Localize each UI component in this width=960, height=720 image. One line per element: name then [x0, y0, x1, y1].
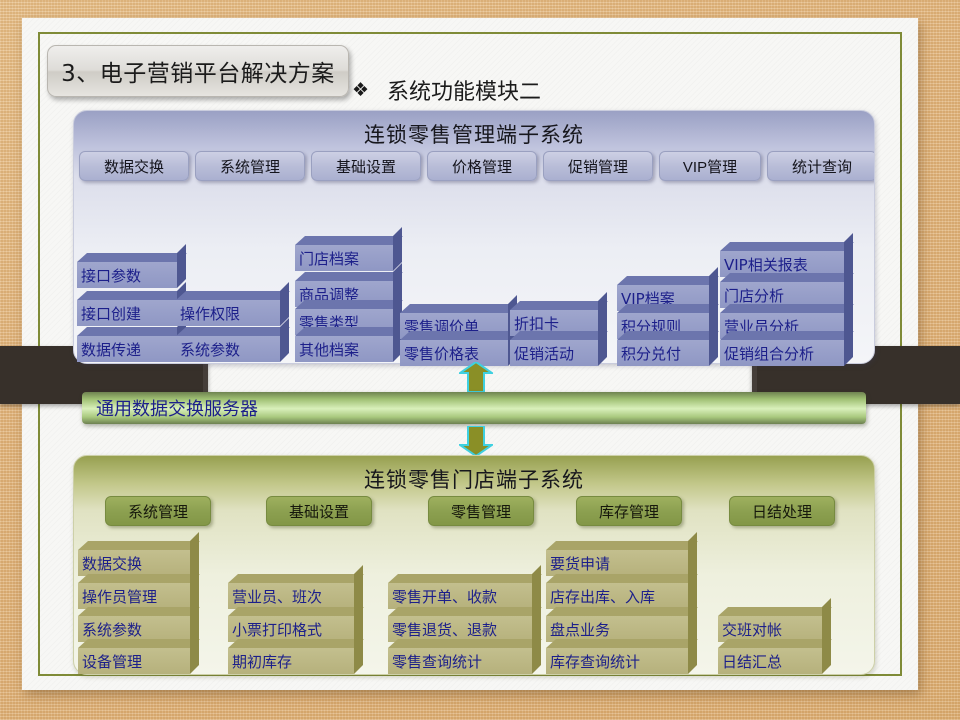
tab-6[interactable]: VIP管理 — [659, 151, 761, 181]
block-item[interactable]: 接口创建 — [77, 300, 177, 326]
block-top-face — [718, 639, 832, 648]
block-label: 零售开单、收款 — [388, 583, 532, 609]
block-top-face — [228, 574, 364, 583]
block-item[interactable]: 库存查询统计 — [546, 648, 688, 674]
subtitle-text: 系统功能模块二 — [387, 74, 541, 106]
block-item[interactable]: 操作员管理 — [78, 583, 190, 609]
tab-2[interactable]: 系统管理 — [195, 151, 305, 181]
block-top-face — [77, 291, 187, 300]
block-item[interactable]: 接口参数 — [77, 262, 177, 288]
block-item[interactable]: 日结汇总 — [718, 648, 822, 674]
block-label: 门店档案 — [295, 245, 393, 271]
block-item[interactable]: 数据交换 — [78, 550, 190, 576]
block-top-face — [718, 607, 832, 616]
block-top-face — [78, 607, 200, 616]
block-item[interactable]: 积分兑付 — [617, 340, 709, 366]
block-top-face — [510, 301, 608, 310]
block-top-face — [617, 331, 719, 340]
block-top-face — [78, 574, 200, 583]
bottom-panel-title: 连锁零售门店端子系统 — [74, 464, 874, 494]
block-top-face — [388, 574, 542, 583]
tab-1[interactable]: 系统管理 — [105, 496, 211, 526]
block-top-face — [77, 253, 187, 262]
block-top-face — [295, 300, 403, 309]
double-arrow-up-icon — [459, 362, 493, 392]
block-label: 数据交换 — [78, 550, 190, 576]
block-item[interactable]: 数据传递 — [77, 336, 177, 362]
bottom-panel-tab-row: 系统管理基础设置零售管理库存管理日结处理 — [74, 496, 874, 526]
block-label: 营业员、班次 — [228, 583, 354, 609]
block-item[interactable]: 营业员、班次 — [228, 583, 354, 609]
block-top-face — [400, 331, 518, 340]
tab-2[interactable]: 基础设置 — [266, 496, 372, 526]
block-label: 数据传递 — [77, 336, 177, 362]
block-top-face — [546, 639, 698, 648]
tab-4[interactable]: 价格管理 — [427, 151, 537, 181]
tab-3[interactable]: 基础设置 — [311, 151, 421, 181]
block-label: 系统参数 — [176, 336, 280, 362]
block-item[interactable]: 零售开单、收款 — [388, 583, 532, 609]
block-top-face — [176, 291, 290, 300]
top-panel-tab-row: 数据交换系统管理基础设置价格管理促销管理VIP管理统计查询 — [74, 151, 874, 181]
block-top-face — [78, 639, 200, 648]
block-top-face — [546, 574, 698, 583]
block-top-face — [295, 272, 403, 281]
block-label: 积分兑付 — [617, 340, 709, 366]
block-item[interactable]: 期初库存 — [228, 648, 354, 674]
top-panel-title: 连锁零售管理端子系统 — [74, 119, 874, 149]
block-top-face — [546, 607, 698, 616]
diamond-bullet-icon: ❖ — [352, 81, 369, 100]
block-item[interactable]: 系统参数 — [176, 336, 280, 362]
double-arrow-down-icon — [459, 426, 493, 456]
block-label: 接口创建 — [77, 300, 177, 326]
block-top-face — [77, 327, 187, 336]
block-item[interactable]: 要货申请 — [546, 550, 688, 576]
block-top-face — [295, 327, 403, 336]
block-label: 接口参数 — [77, 262, 177, 288]
block-top-face — [720, 242, 854, 251]
block-item[interactable]: 促销活动 — [510, 340, 598, 366]
block-label: 操作员管理 — [78, 583, 190, 609]
block-top-face — [388, 639, 542, 648]
block-label: 零售查询统计 — [388, 648, 532, 674]
block-label: 其他档案 — [295, 336, 393, 362]
tab-4[interactable]: 库存管理 — [576, 496, 682, 526]
block-item[interactable]: 设备管理 — [78, 648, 190, 674]
tab-5[interactable]: 促销管理 — [543, 151, 653, 181]
tab-3[interactable]: 零售管理 — [428, 496, 534, 526]
block-top-face — [720, 331, 854, 340]
block-top-face — [617, 304, 719, 313]
block-label: 操作权限 — [176, 300, 280, 326]
page-title: 3、电子营销平台解决方案 — [61, 54, 335, 88]
block-top-face — [720, 304, 854, 313]
tab-7[interactable]: 统计查询 — [767, 151, 875, 181]
slide-title-plaque: 3、电子营销平台解决方案 — [47, 45, 349, 97]
block-top-face — [617, 276, 719, 285]
block-top-face — [546, 541, 698, 550]
tab-1[interactable]: 数据交换 — [79, 151, 189, 181]
block-item[interactable]: 店存出库、入库 — [546, 583, 688, 609]
block-top-face — [295, 236, 403, 245]
block-label: 日结汇总 — [718, 648, 822, 674]
block-item[interactable]: 促销组合分析 — [720, 340, 844, 366]
block-top-face — [510, 331, 608, 340]
block-top-face — [228, 607, 364, 616]
block-label: 要货申请 — [546, 550, 688, 576]
block-top-face — [388, 607, 542, 616]
subtitle-row: ❖ 系统功能模块二 — [352, 74, 541, 106]
block-label: 店存出库、入库 — [546, 583, 688, 609]
block-top-face — [400, 304, 518, 313]
block-item[interactable]: 其他档案 — [295, 336, 393, 362]
block-top-face — [720, 273, 854, 282]
block-label: 促销组合分析 — [720, 340, 844, 366]
server-bar-label: 通用数据交换服务器 — [82, 395, 258, 421]
block-label: 促销活动 — [510, 340, 598, 366]
block-top-face — [176, 327, 290, 336]
block-item[interactable]: 零售查询统计 — [388, 648, 532, 674]
block-item[interactable]: 门店档案 — [295, 245, 393, 271]
block-label: 库存查询统计 — [546, 648, 688, 674]
data-exchange-server-bar: 通用数据交换服务器 — [82, 392, 866, 424]
tab-5[interactable]: 日结处理 — [729, 496, 835, 526]
block-item[interactable]: 操作权限 — [176, 300, 280, 326]
block-top-face — [228, 639, 364, 648]
block-top-face — [78, 541, 200, 550]
block-label: 设备管理 — [78, 648, 190, 674]
block-label: 期初库存 — [228, 648, 354, 674]
